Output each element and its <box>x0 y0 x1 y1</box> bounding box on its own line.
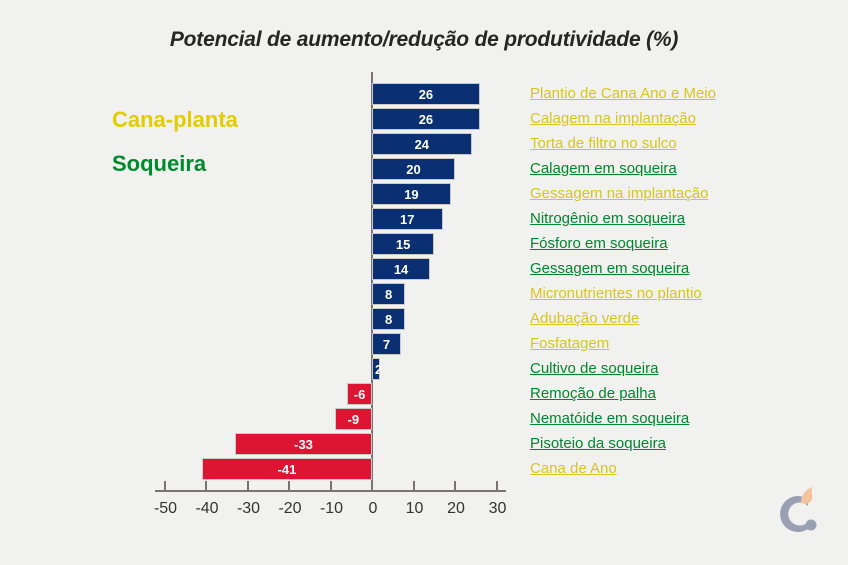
bar-row: 26Plantio de Cana Ano e Meio <box>0 82 848 107</box>
bar-value-label: -9 <box>336 409 371 429</box>
category-label[interactable]: Pisoteio da soqueira <box>530 434 666 454</box>
bar[interactable]: -41 <box>202 458 372 480</box>
x-tick-label: 0 <box>351 500 395 518</box>
x-tick-mark <box>371 481 373 490</box>
x-tick-mark <box>247 481 249 490</box>
bar-row: 8Micronutrientes no plantio <box>0 282 848 307</box>
bar-row: -9Nematóide em soqueira <box>0 407 848 432</box>
category-label[interactable]: Fosfatagem <box>530 334 609 354</box>
bar-value-label: 8 <box>373 284 404 304</box>
bar-value-label: 17 <box>373 209 442 229</box>
bar-value-label: 2 <box>373 359 381 379</box>
bar-value-label: 20 <box>373 159 454 179</box>
logo-flame-shape <box>801 487 812 504</box>
bar-row: 7Fosfatagem <box>0 332 848 357</box>
bar[interactable]: 26 <box>372 108 480 130</box>
category-label[interactable]: Cultivo de soqueira <box>530 359 658 379</box>
bar-row: -33Pisoteio da soqueira <box>0 432 848 457</box>
category-label[interactable]: Fósforo em soqueira <box>530 234 668 254</box>
bar[interactable]: -6 <box>347 383 372 405</box>
bar-row: 8Adubação verde <box>0 307 848 332</box>
category-label[interactable]: Nematóide em soqueira <box>530 409 689 429</box>
x-tick-label: -10 <box>310 500 354 518</box>
category-label[interactable]: Calagem em soqueira <box>530 159 677 179</box>
bar[interactable]: 2 <box>372 358 380 380</box>
x-tick-mark <box>496 481 498 490</box>
bar-row: 15Fósforo em soqueira <box>0 232 848 257</box>
bar-row: 24Torta de filtro no sulco <box>0 132 848 157</box>
brand-c-logo-svg <box>768 485 824 541</box>
bar-value-label: 7 <box>373 334 400 354</box>
x-tick-label: 30 <box>476 500 520 518</box>
bar-row: -41Cana de Ano <box>0 457 848 482</box>
bar-value-label: -41 <box>203 459 371 479</box>
category-label[interactable]: Plantio de Cana Ano e Meio <box>530 84 716 104</box>
bar-value-label: 26 <box>373 109 479 129</box>
bar-value-label: 19 <box>373 184 450 204</box>
bar[interactable]: -33 <box>235 433 372 455</box>
category-label[interactable]: Calagem na implantação <box>530 109 696 129</box>
category-label[interactable]: Gessagem na implantação <box>530 184 708 204</box>
category-label[interactable]: Remoção de palha <box>530 384 656 404</box>
x-tick-label: -50 <box>144 500 188 518</box>
bar[interactable]: 20 <box>372 158 455 180</box>
x-tick-label: 10 <box>393 500 437 518</box>
bar-row: 26Calagem na implantação <box>0 107 848 132</box>
x-tick-mark <box>164 481 166 490</box>
brand-c-logo <box>768 485 824 541</box>
bar[interactable]: 8 <box>372 308 405 330</box>
x-axis: -50-40-30-20-100102030 <box>0 490 848 550</box>
logo-dot-shape <box>806 520 817 531</box>
bar-value-label: 15 <box>373 234 433 254</box>
x-tick-label: -20 <box>268 500 312 518</box>
x-tick-mark <box>413 481 415 490</box>
x-tick-label: 20 <box>434 500 478 518</box>
x-tick-mark <box>205 481 207 490</box>
bar-value-label: 24 <box>373 134 471 154</box>
bar[interactable]: 7 <box>372 333 401 355</box>
x-axis-line <box>155 490 506 492</box>
bar-value-label: 14 <box>373 259 429 279</box>
category-label[interactable]: Micronutrientes no plantio <box>530 284 702 304</box>
category-label[interactable]: Cana de Ano <box>530 459 617 479</box>
bar-row: 17Nitrogênio em soqueira <box>0 207 848 232</box>
bar-value-label: -33 <box>236 434 371 454</box>
bar-row: 2Cultivo de soqueira <box>0 357 848 382</box>
bar[interactable]: 14 <box>372 258 430 280</box>
bar-row: -6Remoção de palha <box>0 382 848 407</box>
bar-value-label: -6 <box>348 384 371 404</box>
bar[interactable]: 26 <box>372 83 480 105</box>
bar[interactable]: 8 <box>372 283 405 305</box>
category-label[interactable]: Torta de filtro no sulco <box>530 134 677 154</box>
x-tick-mark <box>288 481 290 490</box>
bar[interactable]: -9 <box>335 408 372 430</box>
chart-plot-area: 26Plantio de Cana Ano e Meio26Calagem na… <box>0 0 848 565</box>
category-label[interactable]: Nitrogênio em soqueira <box>530 209 685 229</box>
bar-row: 20Calagem em soqueira <box>0 157 848 182</box>
category-label[interactable]: Gessagem em soqueira <box>530 259 689 279</box>
bar[interactable]: 24 <box>372 133 472 155</box>
x-tick-mark <box>454 481 456 490</box>
bar-value-label: 8 <box>373 309 404 329</box>
x-tick-mark <box>330 481 332 490</box>
category-label[interactable]: Adubação verde <box>530 309 639 329</box>
bar-value-label: 26 <box>373 84 479 104</box>
bar-row: 19Gessagem na implantação <box>0 182 848 207</box>
x-tick-label: -40 <box>185 500 229 518</box>
bar[interactable]: 19 <box>372 183 451 205</box>
x-tick-label: -30 <box>227 500 271 518</box>
bar[interactable]: 15 <box>372 233 434 255</box>
bar[interactable]: 17 <box>372 208 443 230</box>
bar-row: 14Gessagem em soqueira <box>0 257 848 282</box>
